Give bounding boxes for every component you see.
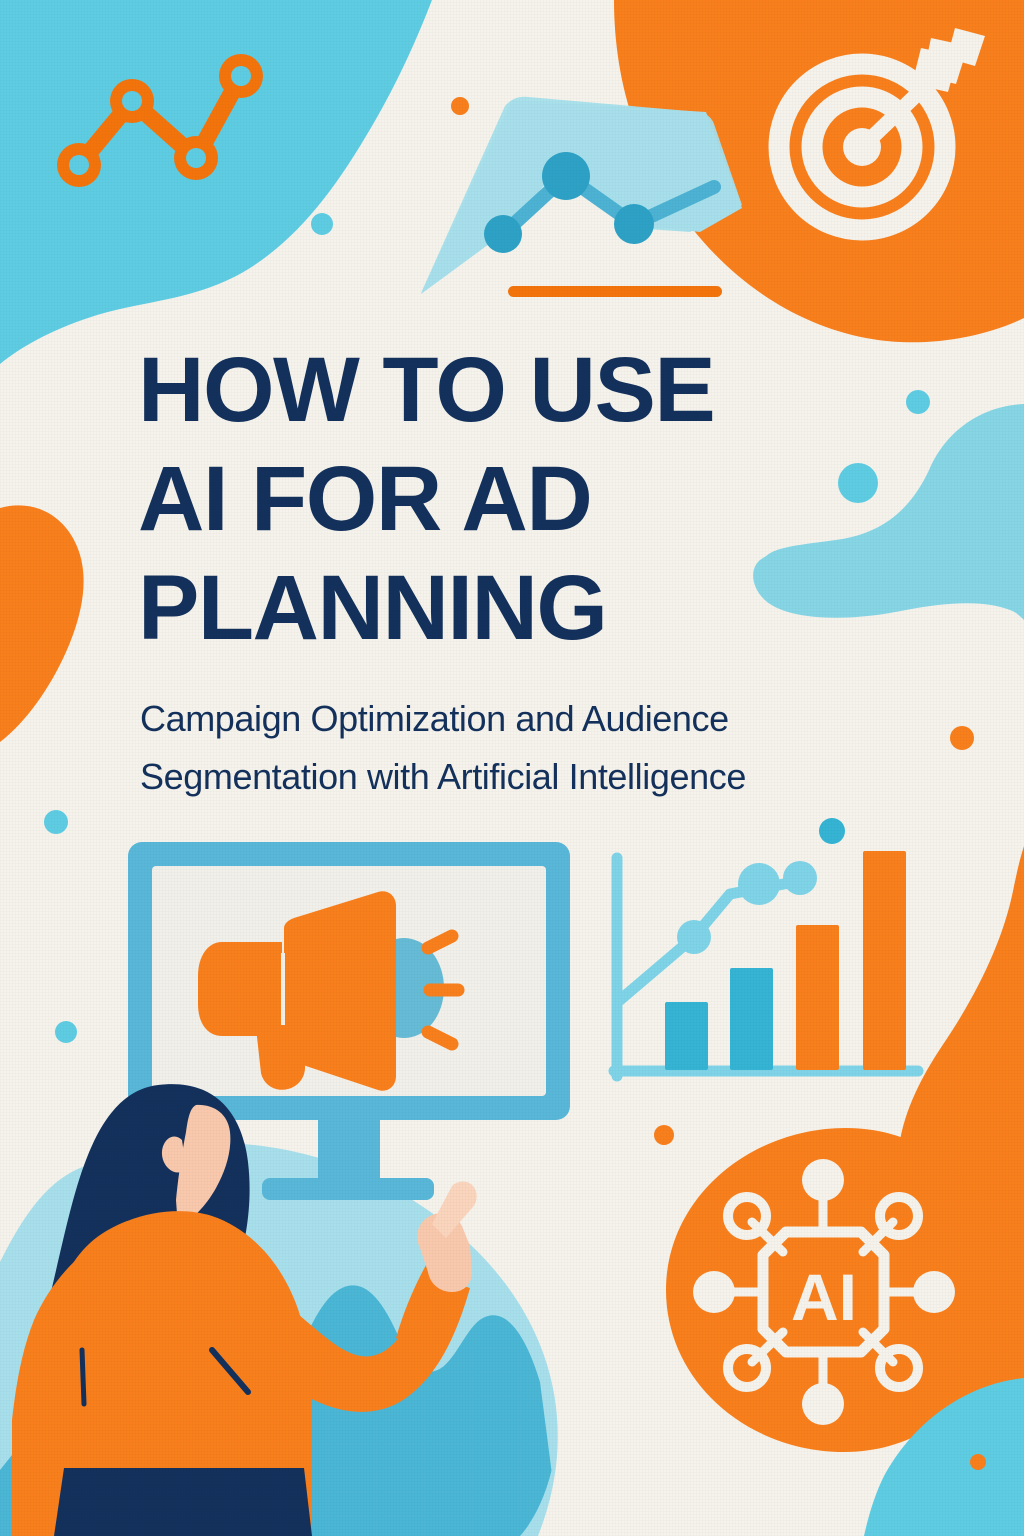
bar-2 bbox=[730, 968, 773, 1070]
cyan-dot-left-lower bbox=[55, 1021, 77, 1043]
cyan-dot-right-upper bbox=[906, 390, 930, 414]
orange-rule bbox=[508, 286, 722, 297]
bar-4 bbox=[863, 851, 906, 1070]
orange-dot-right-lower bbox=[950, 726, 974, 750]
orange-dot-upper-center bbox=[451, 97, 469, 115]
bar-1 bbox=[665, 1002, 708, 1070]
poster-canvas: AI bbox=[0, 0, 1024, 1536]
cyan-dot-upper-left bbox=[311, 213, 333, 235]
cyan-dot-right-low bbox=[819, 818, 845, 844]
poster-artwork: AI bbox=[0, 0, 1024, 1536]
ai-chip-icon: AI bbox=[693, 1159, 955, 1425]
cyan-dot-left bbox=[44, 810, 68, 834]
ai-badge-label: AI bbox=[791, 1260, 857, 1334]
orange-dot-center-low bbox=[654, 1125, 674, 1145]
orange-dot-bottom-right bbox=[970, 1454, 986, 1470]
bar-3 bbox=[796, 925, 839, 1070]
cyan-dot-right-mid bbox=[838, 463, 878, 503]
